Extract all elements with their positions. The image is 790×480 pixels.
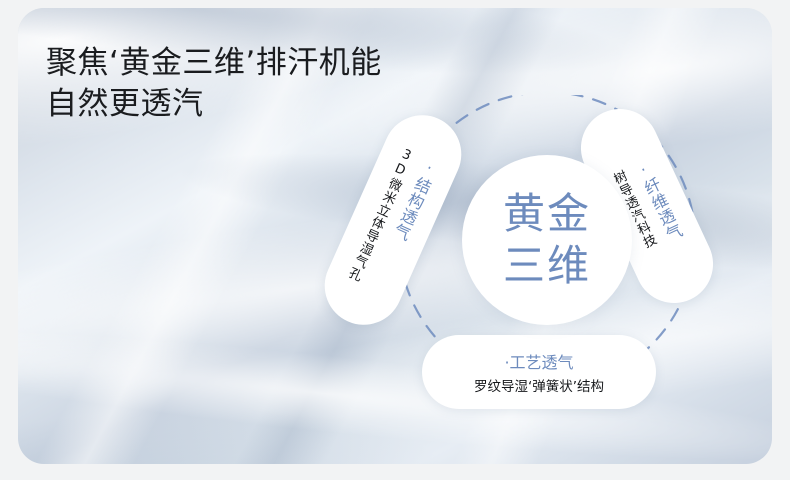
- golden-three-dimension-diagram: ·结构透气 3D微米立体导湿气孔 ·纤维透气 树导透汽科技 ·工艺透气 罗纹导湿…: [340, 95, 740, 425]
- headline-line-2: 自然更透汽: [46, 84, 382, 125]
- promo-banner: 聚焦‘黄金三维’排汗机能 自然更透汽 ·结构透气 3D微米立体导湿气孔 ·纤维透…: [0, 0, 790, 480]
- center-line-1: 黄金: [503, 188, 591, 240]
- node-craft-subtitle: 罗纹导湿‘弹簧状’结构: [474, 375, 604, 395]
- node-craft-text: ·工艺透气 罗纹导湿‘弹簧状’结构: [422, 335, 656, 409]
- diagram-center-badge: 黄金 三维: [462, 155, 632, 325]
- node-craft[interactable]: ·工艺透气 罗纹导湿‘弹簧状’结构: [422, 335, 656, 409]
- page-title: 聚焦‘黄金三维’排汗机能 自然更透汽: [46, 43, 382, 125]
- node-craft-title: ·工艺透气: [504, 349, 573, 373]
- headline-line-1: 聚焦‘黄金三维’排汗机能: [46, 43, 382, 84]
- center-line-2: 三维: [503, 240, 591, 292]
